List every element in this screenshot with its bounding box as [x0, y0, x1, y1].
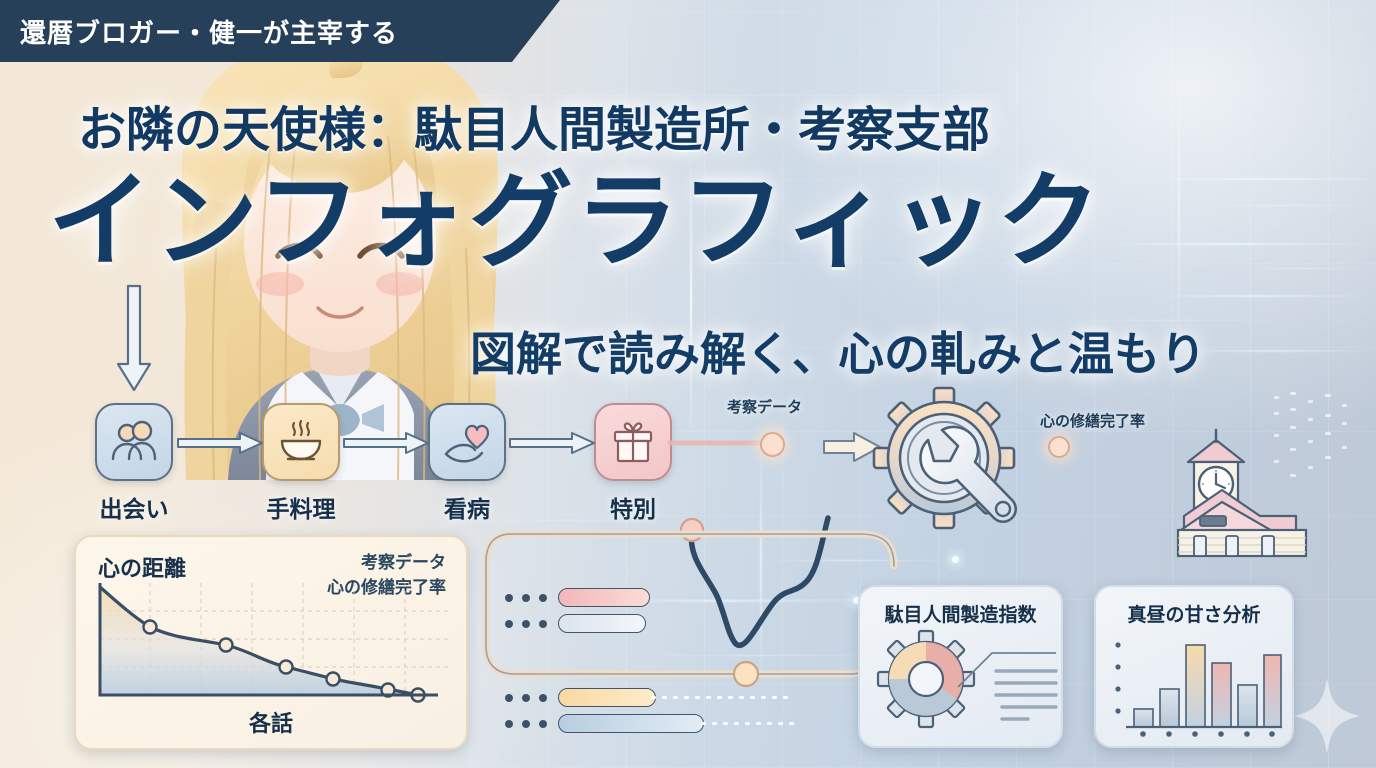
bar-chart-plot	[1112, 631, 1282, 739]
list-item[interactable]	[505, 688, 656, 707]
row-dotted-tail	[648, 696, 788, 699]
page-title: お隣の天使様：駄目人間製造所・考察支部	[78, 90, 1318, 160]
bar-card-title: 真昼の甘さ分析	[1096, 600, 1292, 627]
data-streak	[1150, 295, 1376, 297]
steaming-bowl-icon	[277, 419, 325, 465]
row-bar-blue	[558, 714, 704, 733]
data-streak-endpoint	[952, 556, 959, 563]
flow-step-1[interactable]: 出会い	[95, 403, 173, 524]
banner-text: 還暦ブロガー・健一が主宰する	[0, 13, 398, 50]
row-bullet-dots	[505, 594, 547, 602]
flow-arrow-3	[510, 432, 596, 452]
clock-tower-illustration	[1178, 404, 1328, 556]
down-arrow-icon	[116, 286, 152, 406]
row-bar-amber	[558, 688, 656, 707]
flow-step-label: 手料理	[262, 490, 340, 524]
line-chart-x-label: 各話	[76, 706, 466, 738]
flow-step-label: 出会い	[95, 490, 173, 524]
flow-step-label: 特別	[594, 490, 672, 524]
data-node-dot[interactable]	[760, 432, 785, 457]
list-item[interactable]	[505, 588, 650, 607]
flow-arrow-2	[344, 432, 430, 452]
flow-step-2[interactable]: 手料理	[262, 403, 340, 524]
flow-step-3[interactable]: 看病	[428, 403, 506, 524]
gift-icon	[610, 419, 656, 465]
gear-card-title: 駄目人間製造指数	[860, 600, 1061, 627]
top-banner: 還暦ブロガー・健一が主宰する	[0, 0, 560, 62]
gear-wrench-icon	[866, 388, 1042, 540]
step-icon-container	[262, 403, 340, 481]
line-chart-card[interactable]: 心の距離 考察データ 心の修繕完了率	[74, 535, 468, 750]
step-icon-container	[95, 403, 173, 481]
flow-step-4[interactable]: 特別	[594, 403, 672, 524]
step-icon-container	[594, 403, 672, 481]
step-icon-container	[428, 403, 506, 481]
flow-arrow-1	[178, 432, 264, 452]
legend-item-1: 考察データ	[327, 551, 446, 576]
bar-chart-card[interactable]: 真昼の甘さ分析	[1094, 585, 1294, 748]
infographic-canvas: 還暦ブロガー・健一が主宰する お隣の天使様：駄目人間製造所・考察支部 インフォグ…	[0, 0, 1376, 768]
line-chart-y-label: 心の距離	[98, 551, 186, 583]
row-bullet-dots	[505, 720, 547, 728]
flow-step-label: 看病	[428, 490, 506, 524]
repair-node-dot[interactable]	[1048, 436, 1070, 458]
gear-callout-lines	[956, 635, 1060, 735]
row-bar-pink	[558, 588, 650, 607]
list-item[interactable]	[505, 714, 704, 733]
row-dotted-tail	[698, 722, 798, 725]
people-icon	[111, 421, 157, 463]
list-item[interactable]	[505, 614, 646, 633]
row-bullet-dots	[505, 620, 547, 628]
sparkle-icon	[1292, 676, 1362, 756]
gear-index-card[interactable]: 駄目人間製造指数	[858, 585, 1063, 748]
row-bullet-dots	[505, 694, 547, 702]
heart-in-hand-icon	[443, 420, 491, 464]
line-chart-plot	[98, 583, 448, 713]
data-node-label: 考察データ	[727, 396, 802, 417]
page-subtitle: 図解で読み解く、心の軋みと温もり	[470, 318, 1370, 384]
row-bar-white	[558, 614, 646, 633]
page-headline: インフォグラフィック	[48, 168, 1348, 276]
repair-node-label: 心の修繕完了率	[1040, 410, 1145, 431]
